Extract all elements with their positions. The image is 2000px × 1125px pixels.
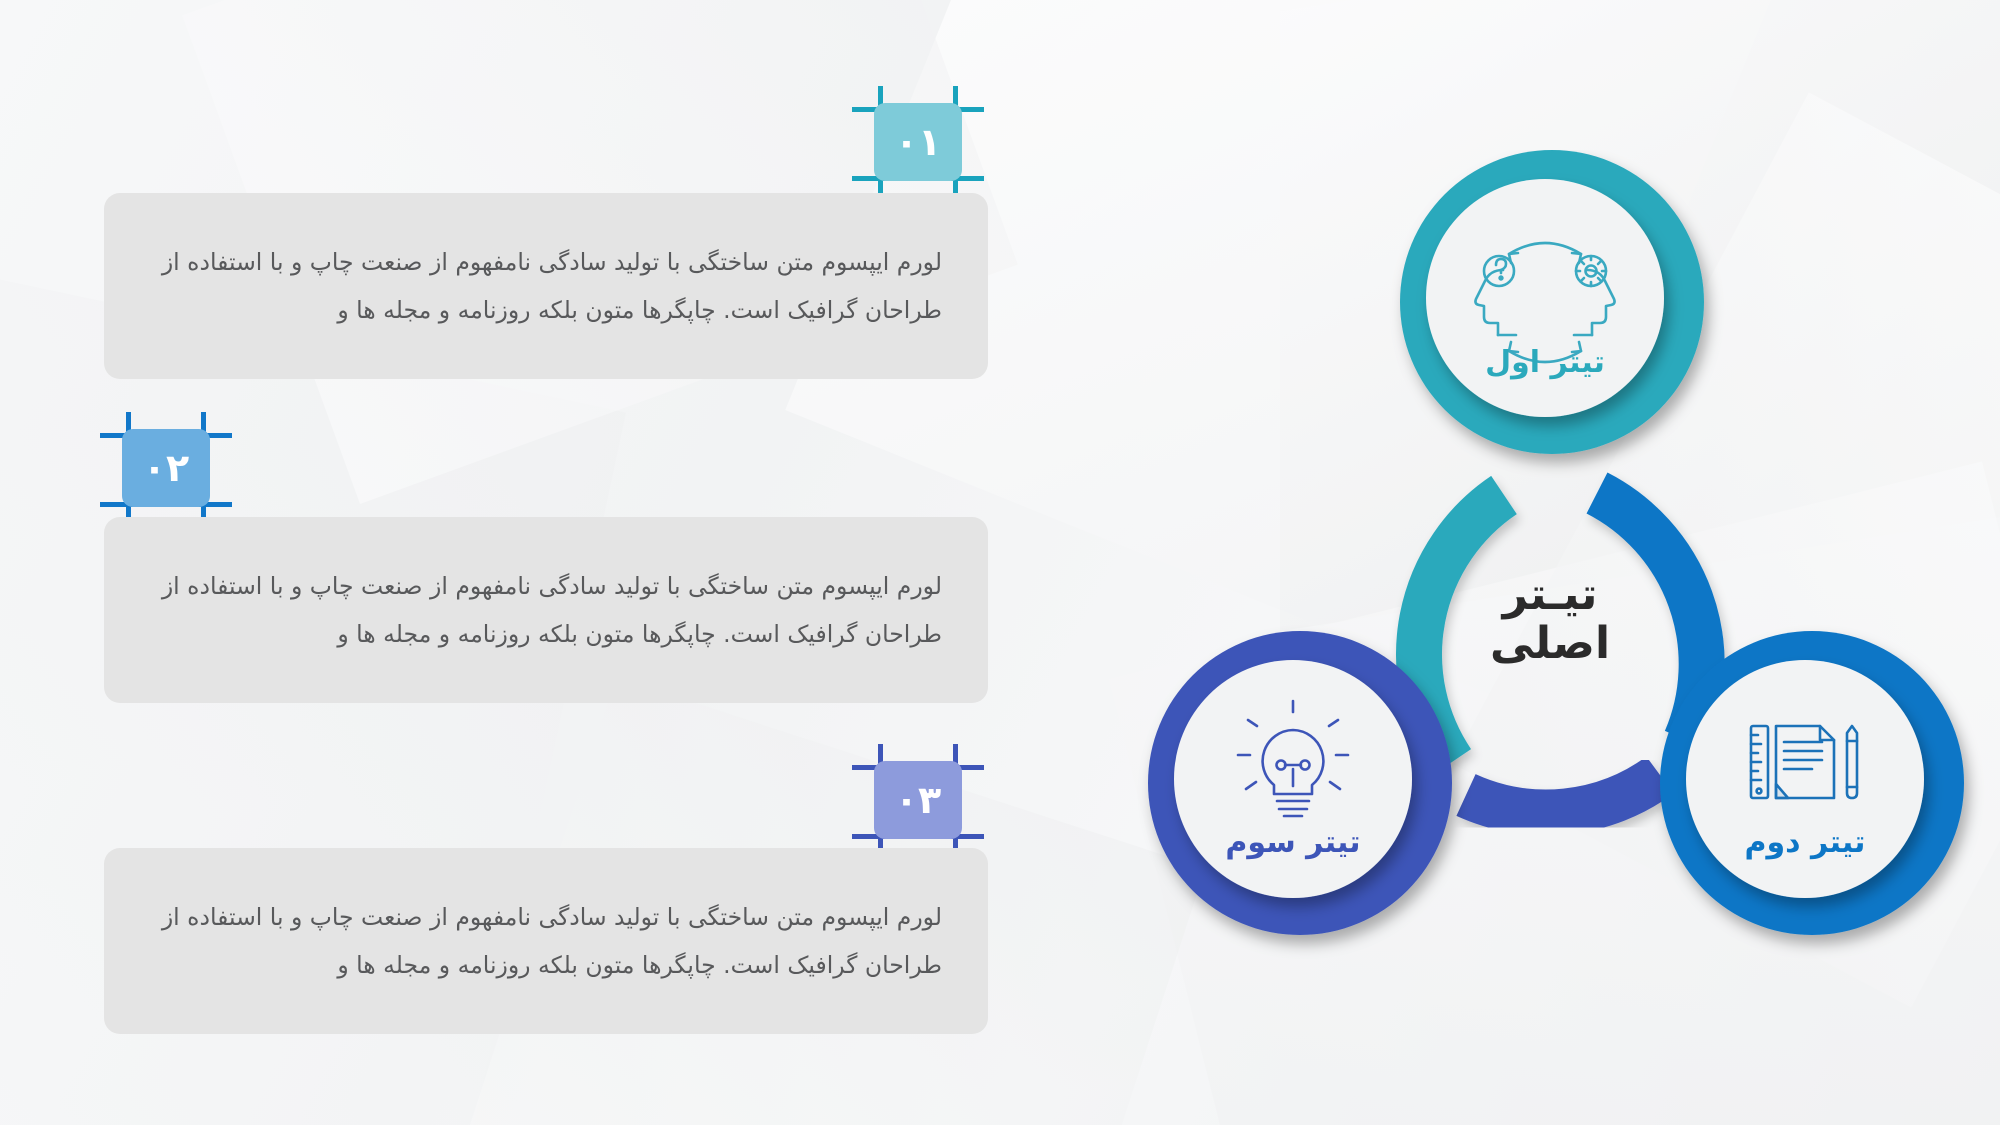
text-card-2: لورم ایپسوم متن ساختگی با تولید سادگی نا… [104,517,988,703]
text-card-3: لورم ایپسوم متن ساختگی با تولید سادگی نا… [104,848,988,1034]
node-one-group[interactable] [1400,150,1704,454]
node-three-label: تیتر سوم [1193,825,1393,860]
node-two-group[interactable] [1660,631,1964,935]
text-card-2-body: لورم ایپسوم متن ساختگی با تولید سادگی نا… [150,562,942,658]
three-node-cycle-diagram: تیتر اول تیتر دوم تیتر سوم تیـتر اصلی [1100,150,2000,980]
node-one-disc [1426,179,1664,417]
node-two-label: تیتر دوم [1705,825,1905,860]
diagram-center-title: تیـتر اصلی [1435,570,1665,669]
step-number-1: ۰۱ [874,103,962,181]
slide-canvas: ۰۱ لورم ایپسوم متن ساختگی با تولید سادگی… [0,0,2000,1125]
step-badge-3[interactable]: ۰۳ [852,744,984,856]
text-card-3-body: لورم ایپسوم متن ساختگی با تولید سادگی نا… [150,893,942,989]
node-three-group[interactable] [1148,631,1452,935]
connector-arc-indigo [1466,775,1660,812]
step-badge-2[interactable]: ۰۲ [100,412,232,524]
center-title-line-1: تیـتر [1435,570,1665,619]
step-number-3: ۰۳ [874,761,962,839]
center-title-line-2: اصلی [1435,619,1665,668]
text-card-1: لورم ایپسوم متن ساختگی با تولید سادگی نا… [104,193,988,379]
node-two-disc [1686,660,1924,898]
node-one-label: تیتر اول [1445,345,1645,380]
content-list: ۰۱ لورم ایپسوم متن ساختگی با تولید سادگی… [0,0,1020,1125]
text-card-1-body: لورم ایپسوم متن ساختگی با تولید سادگی نا… [150,238,942,334]
step-number-2: ۰۲ [122,429,210,507]
step-badge-1[interactable]: ۰۱ [852,86,984,198]
